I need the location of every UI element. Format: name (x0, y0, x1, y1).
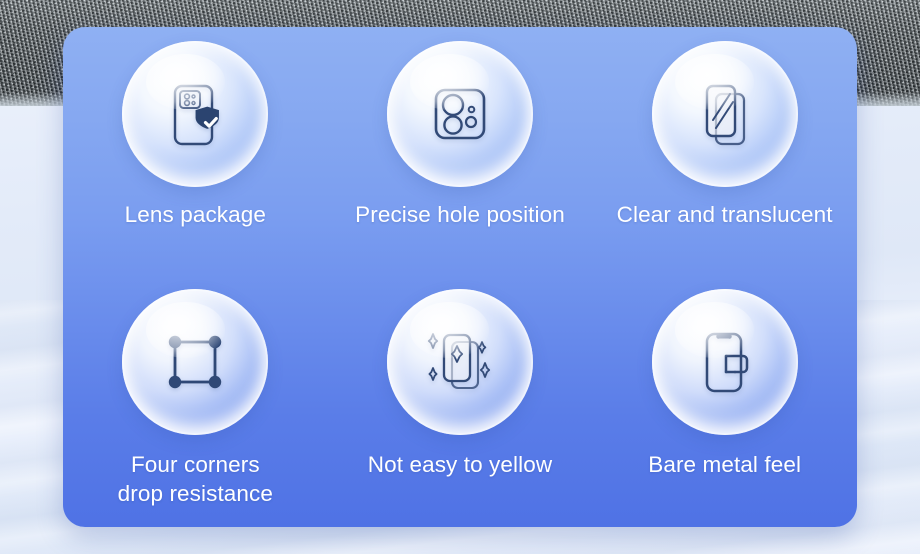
feature-item-lens-package[interactable]: Lens package (63, 27, 328, 277)
feature-label: Bare metal feel (648, 451, 801, 480)
feature-grid: Lens package Precise hole pos (63, 27, 857, 527)
feature-bubble (387, 41, 533, 187)
feature-label: Clear and translucent (617, 201, 833, 230)
product-feature-banner: Lens package Precise hole pos (0, 0, 920, 554)
feature-item-clear-and-translucent[interactable]: Clear and translucent (592, 27, 857, 277)
feature-label: Precise hole position (355, 201, 565, 230)
feature-item-not-easy-to-yellow[interactable]: Not easy to yellow (328, 277, 593, 527)
feature-label: Not easy to yellow (368, 451, 552, 480)
feature-label: Four corners drop resistance (118, 451, 273, 508)
feature-bubble (122, 41, 268, 187)
feature-bubble (652, 41, 798, 187)
feature-bubble (387, 289, 533, 435)
camera-module-cutout-icon (387, 41, 533, 187)
feature-item-bare-metal-feel[interactable]: Bare metal feel (592, 277, 857, 527)
feature-label: Lens package (125, 201, 266, 230)
phone-back-camera-shield-check-icon (122, 41, 268, 187)
feature-bubble (652, 289, 798, 435)
square-four-corner-dots-icon (122, 289, 268, 435)
feature-panel: Lens package Precise hole pos (63, 27, 857, 527)
feature-item-four-corners-drop-resistance[interactable]: Four corners drop resistance (63, 277, 328, 527)
films-with-sparkles-icon (387, 289, 533, 435)
two-clear-films-shine-icon (652, 41, 798, 187)
phone-with-peeling-film-icon (652, 289, 798, 435)
feature-item-precise-hole-position[interactable]: Precise hole position (328, 27, 593, 277)
feature-bubble (122, 289, 268, 435)
